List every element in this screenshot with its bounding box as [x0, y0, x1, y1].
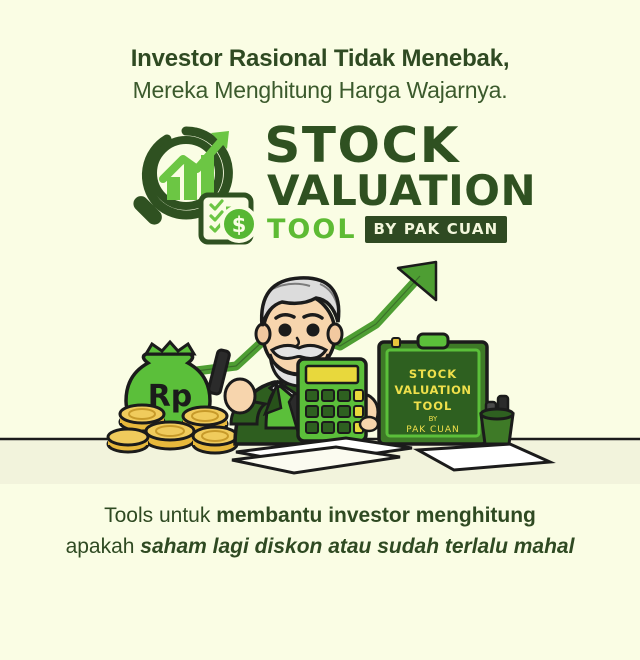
logo-wordmark: STOCK VALUATION TOOL BY PAK CUAN	[267, 123, 529, 247]
headline-line-1: Investor Rasional Tidak Menebak,	[0, 44, 640, 73]
logo-author-badge: BY PAK CUAN	[365, 216, 508, 243]
logo-word-stock: STOCK	[264, 123, 531, 168]
tagline-line-1: Tools untuk membantu investor menghitung	[0, 502, 640, 530]
svg-text:STOCK: STOCK	[409, 367, 457, 381]
tagline-line-2-emphasis: saham lagi diskon atau sudah terlalu mah…	[140, 535, 574, 558]
svg-text:BY: BY	[429, 415, 438, 423]
tagline-line-1-normal: Tools untuk	[104, 504, 216, 527]
elderly-investor-character	[208, 278, 378, 444]
logo-word-valuation: VALUATION	[267, 170, 529, 211]
tagline-line-2-normal: apakah	[66, 535, 141, 558]
footer-tagline: Tools untuk membantu investor menghitung…	[0, 502, 640, 561]
pen-cup-icon	[481, 396, 513, 444]
logo-bottom-row: TOOL BY PAK CUAN	[267, 214, 529, 245]
clipboard-icon: STOCK VALUATION TOOL BY PAK CUAN	[379, 334, 487, 444]
headline-block: Investor Rasional Tidak Menebak, Mereka …	[0, 0, 640, 106]
svg-text:VALUATION: VALUATION	[395, 383, 472, 397]
svg-text:PAK CUAN: PAK CUAN	[406, 425, 460, 435]
svg-text:TOOL: TOOL	[414, 399, 453, 413]
investor-analyst-desk-scene: STOCK VALUATION TOOL BY PAK CUAN Rp	[0, 254, 640, 484]
tagline-line-1-bold: membantu investor menghitung	[216, 504, 536, 527]
logo-word-tool: TOOL	[267, 214, 357, 245]
svg-text:$: $	[232, 213, 247, 237]
magnifying-glass-bar-chart-logo-icon: $	[111, 121, 261, 249]
brand-logo: $ STOCK VALUATION TOOL BY PAK CUAN	[0, 120, 640, 250]
calculator-icon	[298, 359, 366, 441]
headline-line-2: Mereka Menghitung Harga Wajarnya.	[0, 76, 640, 106]
tagline-line-2: apakah saham lagi diskon atau sudah terl…	[0, 533, 640, 561]
